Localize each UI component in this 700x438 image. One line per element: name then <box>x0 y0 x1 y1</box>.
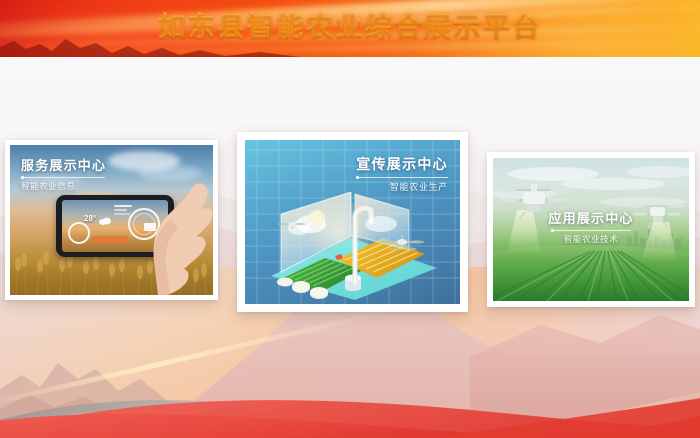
page-title: 如东县智能农业综合展示平台 <box>0 7 700 49</box>
card-application-text-block: 应用展示中心 智能农业技术 <box>493 208 689 245</box>
card-application-display-center[interactable]: 应用展示中心 智能农业技术 <box>487 152 695 307</box>
card-promotion-display-center[interactable]: 宣传展示中心 智能农业生产 <box>237 132 468 312</box>
card-application-divider <box>551 230 631 231</box>
card-service-title: 服务展示中心 <box>21 155 106 174</box>
hud-bar <box>114 209 127 211</box>
hand <box>128 165 213 295</box>
temperature-readout: 28° <box>84 214 96 223</box>
card-promotion-title: 宣传展示中心 <box>356 154 448 174</box>
card-application-title: 应用展示中心 <box>493 208 689 227</box>
card-service-text-block: 服务展示中心 智能农业信息 <box>21 155 106 192</box>
card-promotion-image: 宣传展示中心 智能农业生产 <box>245 140 460 304</box>
card-service-divider <box>21 177 105 178</box>
cloud-icon <box>99 216 111 225</box>
card-application-image: 应用展示中心 智能农业技术 <box>493 158 689 301</box>
card-service-display-center[interactable]: 28° 服务展示中心 智能农 <box>5 140 218 300</box>
header-banner: 如东县智能农业综合展示平台 <box>0 0 700 57</box>
divider-dot <box>551 229 554 232</box>
card-promotion-subtitle: 智能农业生产 <box>356 180 448 193</box>
card-promotion-divider <box>356 177 448 178</box>
card-application-subtitle: 智能农业技术 <box>493 233 689 245</box>
card-promotion-text-block: 宣传展示中心 智能农业生产 <box>356 154 448 193</box>
hud-chip-strip <box>92 236 128 244</box>
hud-ring-left <box>68 222 90 244</box>
app-root: 如东县智能农业综合展示平台 <box>0 0 700 438</box>
isometric-farm-scene <box>259 192 449 300</box>
card-service-subtitle: 智能农业信息 <box>21 180 106 192</box>
divider-dot <box>356 176 359 179</box>
card-service-image: 28° 服务展示中心 智能农 <box>10 145 213 295</box>
divider-dot <box>21 176 24 179</box>
